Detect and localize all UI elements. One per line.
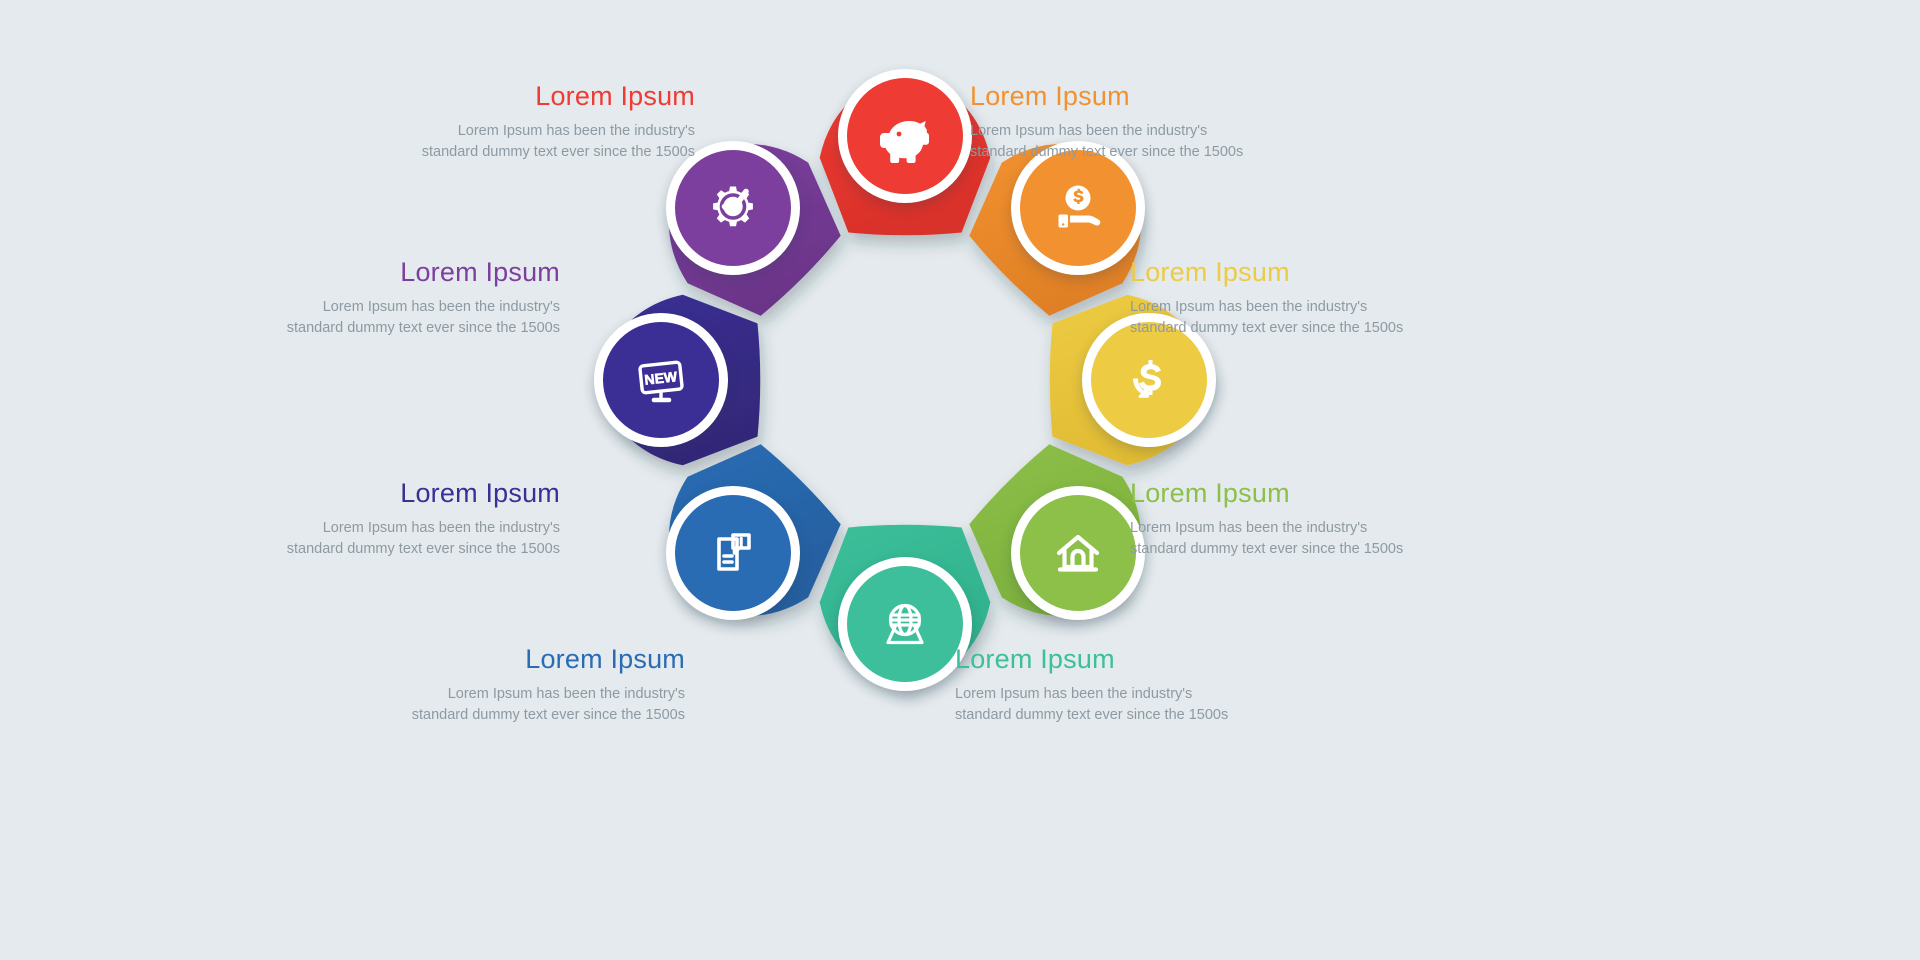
segment-text-hand-coin: Lorem IpsumLorem Ipsum has been the indu… bbox=[970, 82, 1300, 163]
segment-description-line1-new-monitor: Lorem Ipsum has been the industry's bbox=[230, 518, 560, 539]
globe-icon bbox=[875, 594, 935, 654]
segment-text-globe: Lorem IpsumLorem Ipsum has been the indu… bbox=[955, 645, 1285, 726]
segment-text-piggy-bank: Lorem IpsumLorem Ipsum has been the indu… bbox=[365, 82, 695, 163]
icon-bubble-document-alert[interactable] bbox=[666, 486, 800, 620]
icon-bubble-house[interactable] bbox=[1011, 486, 1145, 620]
icon-bubble-new-monitor[interactable]: NEW bbox=[594, 313, 728, 447]
icon-bubble-piggy-bank[interactable] bbox=[838, 69, 972, 203]
segment-description-line1-globe: Lorem Ipsum has been the industry's bbox=[955, 684, 1285, 705]
icon-bubble-globe[interactable] bbox=[838, 557, 972, 691]
segment-description-line2-piggy-bank: standard dummy text ever since the 1500s bbox=[365, 142, 695, 163]
icon-disc-globe bbox=[847, 566, 963, 682]
segment-title-house: Lorem Ipsum bbox=[1130, 479, 1460, 509]
segment-description-globe: Lorem Ipsum has been the industry'sstand… bbox=[955, 684, 1285, 726]
segment-title-hand-coin: Lorem Ipsum bbox=[970, 82, 1300, 112]
segment-text-document-alert: Lorem IpsumLorem Ipsum has been the indu… bbox=[355, 645, 685, 726]
icon-disc-piggy-bank bbox=[847, 78, 963, 194]
segment-description-line2-hand-coin: standard dummy text ever since the 1500s bbox=[970, 142, 1300, 163]
new-monitor-icon: NEW bbox=[631, 350, 691, 410]
segment-description-line1-piggy-bank: Lorem Ipsum has been the industry's bbox=[365, 121, 695, 142]
segment-title-globe: Lorem Ipsum bbox=[955, 645, 1285, 675]
segment-description-gear-check: Lorem Ipsum has been the industry'sstand… bbox=[230, 297, 560, 339]
house-icon bbox=[1048, 523, 1108, 583]
segment-description-line2-new-monitor: standard dummy text ever since the 1500s bbox=[230, 539, 560, 560]
segment-description-line1-dollar-refresh: Lorem Ipsum has been the industry's bbox=[1130, 297, 1460, 318]
segment-description-document-alert: Lorem Ipsum has been the industry'sstand… bbox=[355, 684, 685, 726]
document-alert-icon bbox=[703, 523, 763, 583]
segment-description-line2-dollar-refresh: standard dummy text ever since the 1500s bbox=[1130, 318, 1460, 339]
segment-description-line2-gear-check: standard dummy text ever since the 1500s bbox=[230, 318, 560, 339]
segment-description-line2-globe: standard dummy text ever since the 1500s bbox=[955, 705, 1285, 726]
segment-text-house: Lorem IpsumLorem Ipsum has been the indu… bbox=[1130, 479, 1460, 560]
segment-text-new-monitor: Lorem IpsumLorem Ipsum has been the indu… bbox=[230, 479, 560, 560]
segment-description-hand-coin: Lorem Ipsum has been the industry'sstand… bbox=[970, 121, 1300, 163]
icon-disc-gear-check bbox=[675, 150, 791, 266]
segment-description-new-monitor: Lorem Ipsum has been the industry'sstand… bbox=[230, 518, 560, 560]
segment-text-dollar-refresh: Lorem IpsumLorem Ipsum has been the indu… bbox=[1130, 258, 1460, 339]
gear-check-icon bbox=[703, 178, 763, 238]
icon-disc-hand-coin bbox=[1020, 150, 1136, 266]
infographic-canvas: NEW Lorem IpsumLorem Ipsum has been the … bbox=[0, 0, 1920, 960]
segment-title-new-monitor: Lorem Ipsum bbox=[230, 479, 560, 509]
segment-description-line1-house: Lorem Ipsum has been the industry's bbox=[1130, 518, 1460, 539]
segment-title-piggy-bank: Lorem Ipsum bbox=[365, 82, 695, 112]
segment-title-document-alert: Lorem Ipsum bbox=[355, 645, 685, 675]
segment-description-line1-gear-check: Lorem Ipsum has been the industry's bbox=[230, 297, 560, 318]
icon-disc-new-monitor: NEW bbox=[603, 322, 719, 438]
segment-description-line1-document-alert: Lorem Ipsum has been the industry's bbox=[355, 684, 685, 705]
icon-disc-dollar-refresh bbox=[1091, 322, 1207, 438]
segment-description-line1-hand-coin: Lorem Ipsum has been the industry's bbox=[970, 121, 1300, 142]
dollar-refresh-icon bbox=[1119, 350, 1179, 410]
piggy-bank-icon bbox=[875, 106, 935, 166]
segment-description-dollar-refresh: Lorem Ipsum has been the industry'sstand… bbox=[1130, 297, 1460, 339]
segment-text-gear-check: Lorem IpsumLorem Ipsum has been the indu… bbox=[230, 258, 560, 339]
svg-text:NEW: NEW bbox=[644, 368, 679, 387]
segment-title-dollar-refresh: Lorem Ipsum bbox=[1130, 258, 1460, 288]
segment-description-house: Lorem Ipsum has been the industry'sstand… bbox=[1130, 518, 1460, 560]
segment-title-gear-check: Lorem Ipsum bbox=[230, 258, 560, 288]
segment-description-line2-document-alert: standard dummy text ever since the 1500s bbox=[355, 705, 685, 726]
segment-description-piggy-bank: Lorem Ipsum has been the industry'sstand… bbox=[365, 121, 695, 163]
icon-disc-document-alert bbox=[675, 495, 791, 611]
hand-holding-coin-icon bbox=[1048, 178, 1108, 238]
segment-description-line2-house: standard dummy text ever since the 1500s bbox=[1130, 539, 1460, 560]
icon-disc-house bbox=[1020, 495, 1136, 611]
